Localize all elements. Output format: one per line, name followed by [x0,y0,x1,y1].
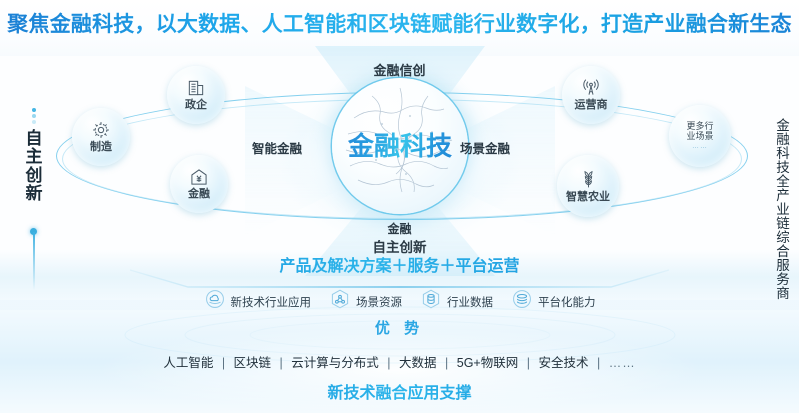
tech-separator: | [280,356,283,370]
database-icon [420,288,442,315]
dot-1 [32,108,36,112]
node-government-enterprise[interactable]: 政企 [167,66,225,124]
node-label: 政企 [185,99,207,111]
cloud-icon [204,288,226,315]
node-label: 金融 [188,188,210,200]
tech-trailing-dots: …… [609,356,636,370]
tech-list: 人工智能 | 区块链 | 云计算与分布式 | 大数据 | 5G+物联网 | 安全… [0,352,799,371]
tech-separator: | [527,356,530,370]
node-finance[interactable]: 金融 [170,155,228,213]
left-vertical-char-1: 自 [20,130,48,148]
node-network-icon [329,288,351,315]
capability-label: 行业数据 [447,294,493,310]
capability-scenario-resources[interactable]: 场景资源 [329,288,402,315]
gear-icon [91,120,111,140]
capability-new-tech-application[interactable]: 新技术行业应用 [204,288,312,315]
node-telecom-operator[interactable]: 运营商 [562,66,620,124]
tech-separator: | [597,356,600,370]
antenna-icon [581,78,601,98]
capability-row: 新技术行业应用 场景资源 行业数据 [0,288,799,315]
tech-separator: | [445,356,448,370]
wheat-icon [578,169,599,190]
sphere-title: 金融科技 [332,126,468,163]
tech-item: 区块链 [234,356,272,370]
tech-item: 人工智能 [163,356,213,370]
left-vertical-dots [32,106,36,126]
more-dots-icon: …… [692,143,708,150]
left-vertical-char-4: 新 [20,185,48,203]
capability-platform-capability[interactable]: 平台化能力 [511,288,596,315]
left-vertical-char-2: 主 [20,148,48,166]
tech-separator: | [387,356,390,370]
layers-icon [511,288,533,315]
label-finance: 金融 [0,220,799,237]
capability-label: 新技术行业应用 [231,294,312,310]
page-title: 聚焦金融科技，以大数据、人工智能和区块链赋能行业数字化，打造产业融合新生态 [0,8,799,38]
node-label: 运营商 [575,99,608,111]
tech-item: 安全技术 [538,356,588,370]
tech-item: 云计算与分布式 [291,356,379,370]
tech-item: 大数据 [399,356,437,370]
infographic-canvas: 聚焦金融科技，以大数据、人工智能和区块链赋能行业数字化，打造产业融合新生态 [0,0,799,413]
label-intelligent-finance: 智能金融 [252,138,302,157]
capability-label: 平台化能力 [538,294,596,310]
node-more-industries[interactable]: 更多行 业场景 …… [669,105,731,167]
capability-label: 场景资源 [356,294,402,310]
tech-separator: | [222,356,225,370]
advantage-title: 优 势 [0,317,799,338]
tech-item: 5G+物联网 [457,356,518,370]
funnel-shape [128,268,671,290]
node-smart-agriculture[interactable]: 智慧农业 [557,155,619,217]
dot-3 [32,120,36,124]
node-label: 制造 [90,141,112,153]
bottom-title: 新技术融合应用支撑 [0,379,799,403]
node-label: 智慧农业 [566,191,610,203]
node-manufacturing[interactable]: 制造 [72,108,130,166]
capability-industry-data[interactable]: 行业数据 [420,288,493,315]
building-icon [186,78,206,98]
left-vertical-label: 自 主 创 新 [20,130,48,203]
node-label-line2: 业场景 [686,132,713,142]
bank-yen-icon [189,167,209,187]
label-fintech-innovation: 金融信创 [0,60,799,79]
label-scenario-finance: 场景金融 [460,138,510,157]
dot-2 [32,114,36,118]
left-vertical-char-3: 创 [20,167,48,185]
